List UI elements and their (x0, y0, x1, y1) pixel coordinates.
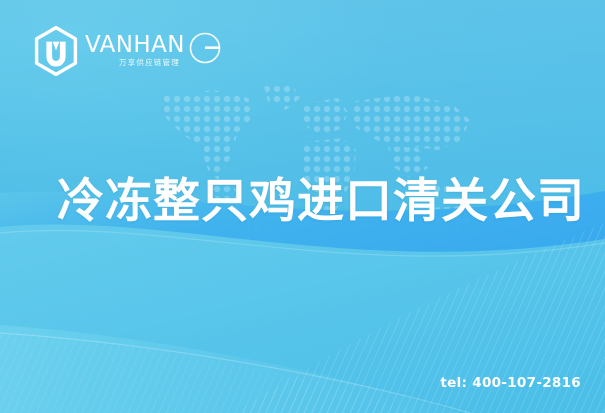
promo-banner: VANHAN 万享供应链管理 冷冻整只鸡进口清关公司 tel: 400-107-… (0, 0, 605, 413)
svg-text:VANHAN: VANHAN (85, 32, 185, 58)
logo-subtitle: 万享供应链管理 (119, 57, 180, 68)
contact-phone[interactable]: tel: 400-107-2816 (440, 375, 581, 391)
brand-logo[interactable]: VANHAN 万享供应链管理 (33, 26, 223, 78)
hexagon-u-mark-icon (33, 26, 79, 76)
page-title: 冷冻整只鸡进口清关公司 (57, 176, 585, 228)
